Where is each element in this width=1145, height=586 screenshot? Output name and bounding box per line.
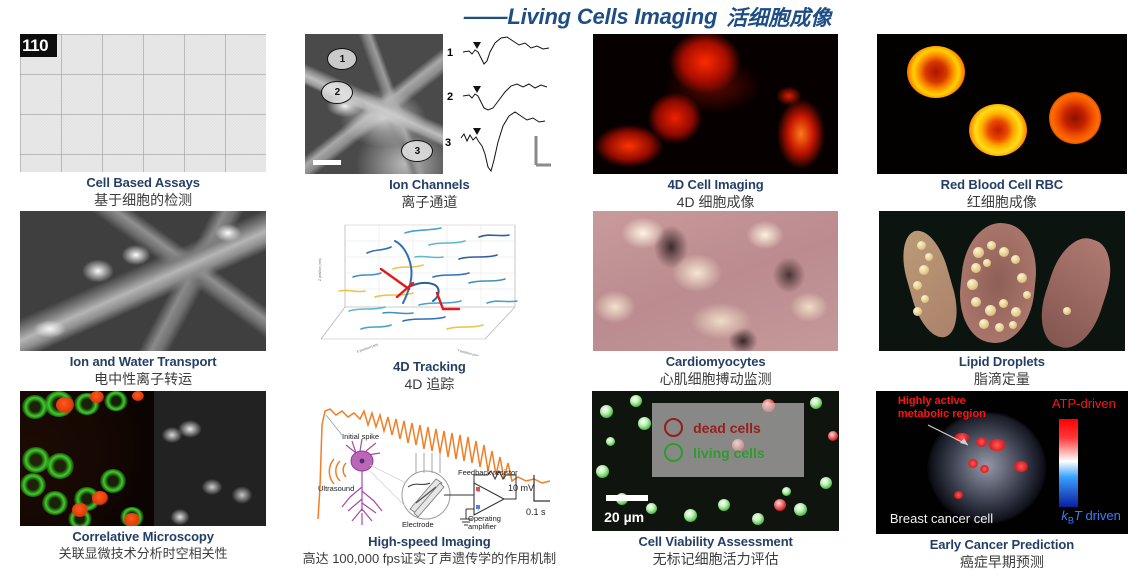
caption-en: Cell Viability Assessment [573, 534, 859, 550]
lipid-droplet [1011, 255, 1020, 264]
cell-body [1031, 231, 1121, 351]
sample-label: Breast cancer cell [890, 511, 993, 526]
caption-early-cancer-prediction: Early Cancer Prediction 癌症早期预测 [859, 537, 1145, 571]
caption-en: 4D Cell Imaging [573, 177, 859, 193]
lipid-droplet [995, 323, 1004, 332]
ion-channels-image: 1 2 3 [305, 34, 553, 174]
title-text-cn: 活细胞成像 [726, 2, 831, 32]
hotspot-arrow-icon [926, 423, 978, 449]
lipid-droplet [983, 259, 991, 267]
colorbar-rest: driven [1082, 508, 1121, 523]
lipid-droplet [999, 247, 1009, 257]
caption-cn: 基于细胞的检测 [0, 191, 286, 209]
lipid-droplet [973, 247, 984, 258]
metabolic-hotspot [980, 465, 989, 473]
metabolic-hotspot [988, 439, 1006, 451]
caption-cn: 4D 细胞成像 [573, 193, 859, 211]
colorbar [1059, 419, 1078, 507]
lipid-droplet [917, 241, 926, 250]
roi-marker-3: 3 [401, 140, 433, 162]
microplate-image: 110 [20, 34, 266, 172]
colorbar-t: T [1074, 508, 1082, 523]
caption-en: 4D Tracking [286, 359, 572, 375]
panel-red-blood-cell[interactable]: Red Blood Cell RBC 红细胞成像 [859, 34, 1145, 211]
living-cell-dot [606, 437, 615, 446]
caption-en: Ion and Water Transport [0, 354, 286, 370]
hotspot-label: Highly active metabolic region [898, 395, 986, 421]
neuron-roi-image: 1 2 3 [305, 34, 443, 174]
caption-en: High-speed Imaging [286, 534, 572, 550]
panel-cell-viability[interactable]: dead cells living cells 20 µm Cell Viabi… [573, 391, 859, 586]
caption-en: Correlative Microscopy [0, 529, 286, 545]
grayscale-half [154, 391, 266, 526]
hsi-svg: – + [298, 391, 560, 531]
rbc-cell [1049, 92, 1101, 144]
panel-4d-cell-imaging[interactable]: 4D Cell Imaging 4D 细胞成像 [573, 34, 859, 211]
label-ultrasound: Ultrasound [318, 484, 354, 493]
lipid-droplet [1023, 291, 1031, 299]
panel-4d-tracking[interactable]: Z position (nm) X position (nm) Y positi… [286, 211, 572, 391]
caption-lipid-droplets: Lipid Droplets 脂滴定量 [859, 354, 1145, 388]
lipid-droplet [971, 297, 981, 307]
label-electrode: Electrode [402, 520, 434, 529]
legend-label-dead: dead cells [693, 420, 761, 436]
metabolic-hotspot [1014, 461, 1028, 472]
red-fluorescence-image [593, 34, 838, 174]
label-scale-time: 0.1 s [526, 507, 546, 517]
living-cell-dot [718, 499, 730, 511]
label-feedback-resistor: Feedback resistor [458, 468, 518, 477]
caption-en: Ion Channels [286, 177, 572, 193]
living-cell-dot [820, 477, 832, 489]
slide-root: ——Living Cells Imaging 活细胞成像 110 Cell Ba… [0, 0, 1145, 586]
green-cell [104, 391, 128, 411]
legend-label-living: living cells [693, 445, 765, 461]
viability-legend: dead cells living cells [652, 403, 804, 477]
caption-en: Cell Based Assays [0, 175, 286, 191]
living-cell-dot [782, 487, 791, 496]
hotspot-label-line1: Highly active [898, 395, 986, 408]
z-axis-label: Z position (nm) [318, 258, 322, 281]
green-cell [20, 473, 46, 497]
ion-trace-plots: 1 2 3 [443, 34, 553, 174]
lipid-droplet [919, 265, 929, 275]
lipid-droplet [967, 279, 978, 290]
red-nucleus [56, 397, 74, 413]
living-cell-dot [600, 405, 613, 418]
living-cell-dot [638, 417, 651, 430]
colorbar-bottom-label: kBT driven [1061, 508, 1121, 526]
lipid-droplet [979, 319, 989, 329]
grayscale-neuron-image [20, 211, 266, 351]
lipid-droplet [1011, 307, 1021, 317]
caption-high-speed-imaging: High-speed Imaging 高达 100,000 fps证实了声遗传学… [286, 534, 572, 568]
caption-correlative-microscopy: Correlative Microscopy 关联显微技术分析时空相关性 [0, 529, 286, 563]
correlative-microscopy-image [20, 391, 266, 526]
title-text-en: ——Living Cells Imaging [464, 4, 718, 30]
caption-cell-viability: Cell Viability Assessment 无标记细胞活力评估 [573, 534, 859, 568]
red-nucleus [72, 503, 88, 517]
dead-cell-dot [774, 499, 786, 511]
lipid-droplet [1009, 321, 1017, 329]
lipid-droplet [921, 295, 929, 303]
cardiomyocytes-image [593, 211, 838, 351]
caption-cn: 心肌细胞搏动监测 [573, 370, 859, 388]
dead-circle-icon [664, 418, 683, 437]
early-cancer-image: Highly active metabolic region Breast ca… [876, 391, 1128, 534]
lipid-droplets-image [879, 211, 1125, 351]
panel-ion-water-transport[interactable]: Ion and Water Transport 电中性离子转运 [0, 211, 286, 391]
caption-cn: 关联显微技术分析时空相关性 [0, 545, 286, 563]
panel-early-cancer-prediction[interactable]: Highly active metabolic region Breast ca… [859, 391, 1145, 586]
legend-row-dead: dead cells [664, 418, 804, 437]
tracking-3d-plot: Z position (nm) X position (nm) Y positi… [309, 211, 549, 356]
panel-cardiomyocytes[interactable]: Cardiomyocytes 心肌细胞搏动监测 [573, 211, 859, 391]
caption-red-blood-cell: Red Blood Cell RBC 红细胞成像 [859, 177, 1145, 211]
panel-correlative-microscopy[interactable]: Correlative Microscopy 关联显微技术分析时空相关性 [0, 391, 286, 586]
label-initial-spike: Initial spike [342, 432, 379, 441]
living-cell-dot [810, 397, 822, 409]
hotspot-label-line2: metabolic region [898, 408, 986, 421]
lipid-droplet [999, 299, 1008, 308]
living-cell-dot [752, 513, 764, 525]
lipid-droplet [971, 263, 981, 273]
roi-marker-2: 2 [321, 81, 353, 104]
caption-cn: 高达 100,000 fps证实了声遗传学的作用机制 [286, 550, 572, 568]
trace-label-1: 1 [447, 47, 453, 59]
caption-cn: 无标记细胞活力评估 [573, 550, 859, 568]
trace-label-2: 2 [447, 91, 453, 103]
lipid-droplet [987, 241, 996, 250]
lipid-droplet [913, 281, 922, 290]
panel-cell-based-assays[interactable]: 110 Cell Based Assays 基于细胞的检测 [0, 34, 286, 211]
scale-bar [313, 160, 341, 165]
rbc-image [877, 34, 1127, 174]
dead-cell-dot [828, 431, 838, 441]
tracking-svg: Z position (nm) X position (nm) Y positi… [309, 211, 549, 356]
cell-viability-image: dead cells living cells 20 µm [592, 391, 839, 531]
caption-cell-based-assays: Cell Based Assays 基于细胞的检测 [0, 175, 286, 209]
caption-ion-channels: Ion Channels 离子通道 [286, 177, 572, 211]
metabolic-hotspot [954, 491, 963, 499]
caption-en: Early Cancer Prediction [859, 537, 1145, 553]
caption-cn: 离子通道 [286, 193, 572, 211]
lipid-droplet [1063, 307, 1071, 315]
living-cell-dot [596, 465, 609, 478]
plate-badge: 110 [20, 34, 57, 57]
lipid-droplet [925, 253, 933, 261]
label-operating-amplifier-2: amplifier [468, 522, 497, 531]
caption-en: Red Blood Cell RBC [859, 177, 1145, 193]
panel-ion-channels[interactable]: 1 2 3 [286, 34, 572, 211]
caption-cn: 脂滴定量 [859, 370, 1145, 388]
rbc-cell [907, 46, 965, 98]
lipid-droplet [913, 307, 922, 316]
living-cell-dot [630, 395, 642, 407]
panel-grid: 110 Cell Based Assays 基于细胞的检测 1 2 3 [0, 34, 1145, 586]
red-nucleus [92, 491, 108, 505]
living-cell-dot [684, 509, 697, 522]
roi-marker-1: 1 [327, 48, 357, 70]
slide-title: ——Living Cells Imaging 活细胞成像 [0, 0, 1145, 34]
caption-en: Cardiomyocytes [573, 354, 859, 370]
scale-bar [606, 495, 648, 501]
living-cell-dot [794, 503, 807, 516]
green-cell [46, 453, 74, 479]
green-cell [100, 469, 126, 493]
legend-row-living: living cells [664, 443, 804, 462]
caption-ion-water-transport: Ion and Water Transport 电中性离子转运 [0, 354, 286, 388]
y-axis-label: Y position (nm) [457, 348, 480, 356]
caption-cn: 癌症早期预测 [859, 553, 1145, 571]
panel-high-speed-imaging[interactable]: – + [286, 391, 572, 586]
trace-svg: 1 2 3 [443, 34, 553, 174]
caption-4d-tracking: 4D Tracking 4D 追踪 [286, 359, 572, 393]
caption-en: Lipid Droplets [859, 354, 1145, 370]
x-axis-label: X position (nm) [356, 342, 379, 354]
lipid-droplet [1017, 273, 1027, 283]
caption-cn: 电中性离子转运 [0, 370, 286, 388]
rbc-cell [969, 104, 1027, 156]
panel-lipid-droplets[interactable]: Lipid Droplets 脂滴定量 [859, 211, 1145, 391]
colorbar-top-label: ATP-driven [1052, 396, 1116, 411]
cell-body [895, 225, 966, 342]
lipid-droplet [985, 305, 996, 316]
living-circle-icon [664, 443, 683, 462]
caption-4d-cell-imaging: 4D Cell Imaging 4D 细胞成像 [573, 177, 859, 211]
caption-cardiomyocytes: Cardiomyocytes 心肌细胞搏动监测 [573, 354, 859, 388]
caption-cn: 红细胞成像 [859, 193, 1145, 211]
green-cell [42, 491, 68, 515]
metabolic-hotspot [968, 459, 978, 468]
trace-label-3: 3 [445, 137, 451, 149]
label-scale-voltage: 10 mV [508, 483, 534, 493]
living-cell-dot [646, 503, 657, 514]
scale-bar-label: 20 µm [604, 509, 644, 525]
high-speed-imaging-figure: – + [298, 391, 560, 531]
